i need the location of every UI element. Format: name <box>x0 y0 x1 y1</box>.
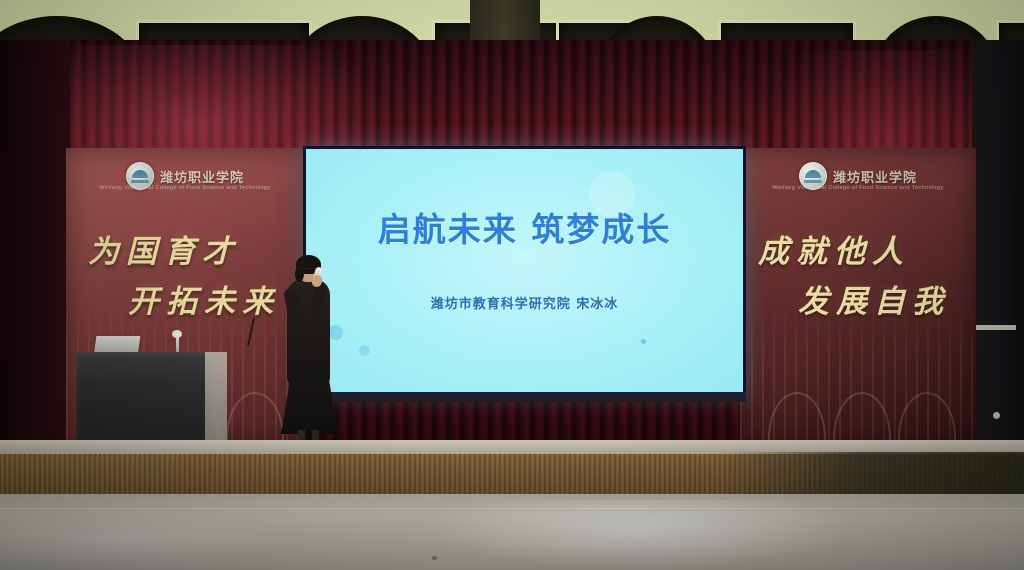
slide-decor-circle <box>359 345 370 356</box>
stage-wing-left <box>0 40 70 450</box>
banner-slogan-line-2: 发展自我 <box>798 276 950 321</box>
college-name-cn: 潍坊职业学院 <box>833 167 917 186</box>
college-name-en: Weifang Vocational College of Food Scien… <box>740 185 976 191</box>
slide-title: 启航未来 筑梦成长 <box>306 203 743 251</box>
backstage-light-strip <box>976 325 1016 330</box>
college-name-cn: 潍坊职业学院 <box>160 167 244 186</box>
banner-slogan-line-1: 成就他人 <box>758 226 910 271</box>
slide-decor-dot <box>641 339 646 344</box>
stage-front-shadow <box>720 452 1024 496</box>
banner-right: 潍坊职业学院 Weifang Vocational College of Foo… <box>740 148 976 444</box>
stage-photo-scene: 潍坊职业学院 Weifang Vocational College of Foo… <box>0 0 1024 570</box>
floor-reflection <box>0 510 300 570</box>
projection-screen-base <box>303 392 746 402</box>
backstage-light-dot <box>993 412 1000 419</box>
banner-slogan-line-2: 开拓未来 <box>128 276 280 321</box>
stage-wing-right <box>972 40 1024 450</box>
floor-mark <box>432 556 437 560</box>
college-name-en: Weifang Vocational College of Food Scien… <box>66 185 304 191</box>
slide-subtitle: 潍坊市教育科学研究院 宋冰冰 <box>306 293 743 312</box>
floor-reflection <box>430 500 850 570</box>
banner-slogan-line-1: 为国育才 <box>88 226 240 271</box>
podium-table <box>76 352 212 448</box>
projection-screen-frame: 启航未来 筑梦成长 潍坊市教育科学研究院 宋冰冰 <box>303 146 746 396</box>
projection-screen: 启航未来 筑梦成长 潍坊市教育科学研究院 宋冰冰 <box>306 149 743 393</box>
speaker-presenter <box>281 258 339 448</box>
podium-side-panel <box>205 352 227 448</box>
